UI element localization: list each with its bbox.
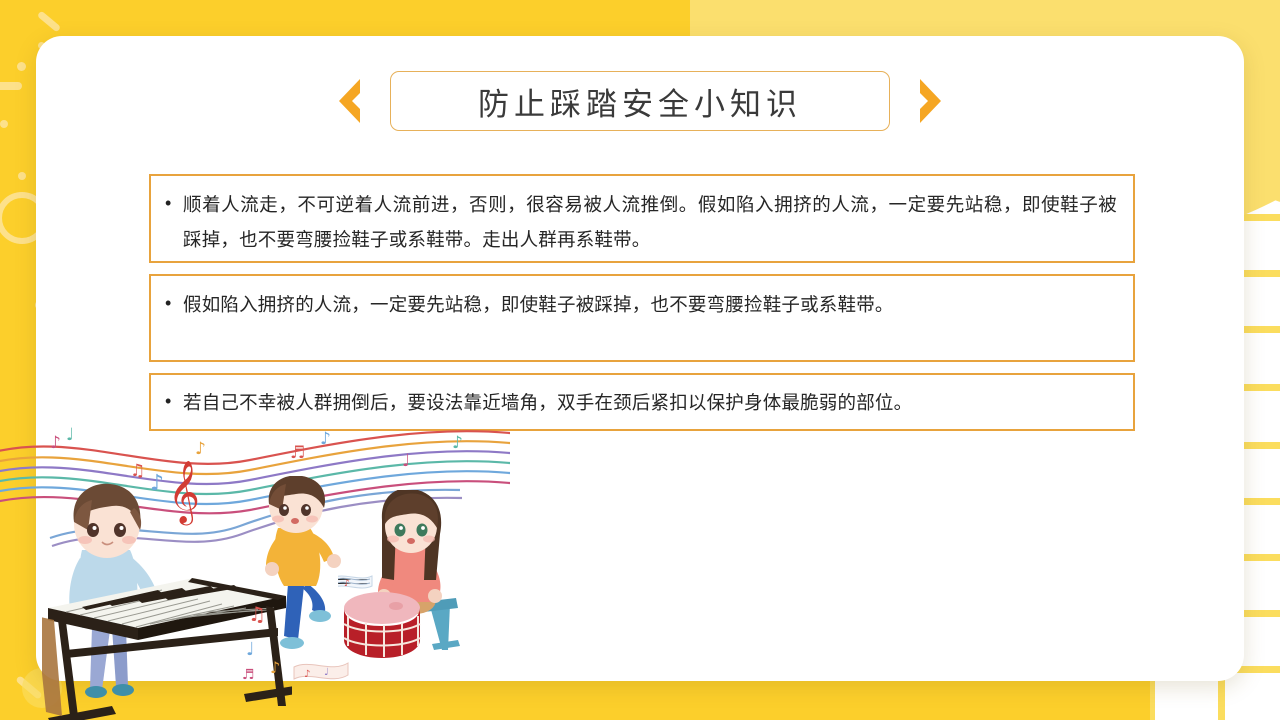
slide-root: 防止踩踏安全小知识 • 顺着人流走，不可逆着人流前进，否则，很容易被人流推倒。假… bbox=[0, 0, 1280, 720]
title-box: 防止踩踏安全小知识 bbox=[390, 71, 890, 131]
svg-text:♪: ♪ bbox=[304, 669, 310, 680]
svg-text:♩: ♩ bbox=[66, 425, 74, 445]
children-playing-music-illustration: ♪ ♩ ♫ ♪ ♬ ♪ ♩ ♪ 𝄞 ♪ bbox=[0, 418, 510, 720]
title-row: 防止踩踏安全小知识 bbox=[36, 66, 1244, 136]
svg-text:♬: ♬ bbox=[290, 443, 305, 463]
bullet-marker: • bbox=[165, 386, 183, 421]
svg-text:♩: ♩ bbox=[324, 667, 329, 678]
svg-text:♪: ♪ bbox=[344, 579, 350, 589]
svg-text:♬: ♬ bbox=[242, 667, 255, 683]
scattered-music-notes: ♫ ♩ ♪ ♬ ♪ ♩ bbox=[240, 593, 370, 703]
bullet-box-1: • 顺着人流走，不可逆着人流前进，否则，很容易被人流推倒。假如陷入拥挤的人流，一… bbox=[149, 174, 1135, 263]
page-title: 防止踩踏安全小知识 bbox=[478, 79, 802, 124]
svg-text:♪: ♪ bbox=[452, 433, 463, 453]
svg-text:♫: ♫ bbox=[248, 602, 266, 626]
svg-text:♪: ♪ bbox=[195, 439, 206, 459]
svg-text:♪: ♪ bbox=[320, 429, 331, 449]
bullet-text-3: 若自己不幸被人群拥倒后，要设法靠近墙角，双手在颈后紧扣以保护身体最脆弱的部位。 bbox=[183, 386, 1117, 421]
chevron-right-icon bbox=[916, 77, 950, 125]
bullet-text-1: 顺着人流走，不可逆着人流前进，否则，很容易被人流推倒。假如陷入拥挤的人流，一定要… bbox=[183, 188, 1117, 258]
svg-text:♩: ♩ bbox=[402, 451, 410, 471]
bullet-marker: • bbox=[165, 188, 183, 258]
svg-text:♪: ♪ bbox=[270, 658, 280, 677]
chevron-left-icon bbox=[330, 77, 364, 125]
bullet-box-list: • 顺着人流走，不可逆着人流前进，否则，很容易被人流推倒。假如陷入拥挤的人流，一… bbox=[149, 174, 1135, 442]
svg-text:♪: ♪ bbox=[50, 433, 61, 453]
bullet-text-2: 假如陷入拥挤的人流，一定要先站稳，即使鞋子被踩掉，也不要弯腰捡鞋子或系鞋带。 bbox=[183, 288, 1117, 323]
bullet-box-2: • 假如陷入拥挤的人流，一定要先站稳，即使鞋子被踩掉，也不要弯腰捡鞋子或系鞋带。 bbox=[149, 274, 1135, 362]
bullet-marker: • bbox=[165, 288, 183, 323]
svg-text:♩: ♩ bbox=[246, 639, 255, 660]
